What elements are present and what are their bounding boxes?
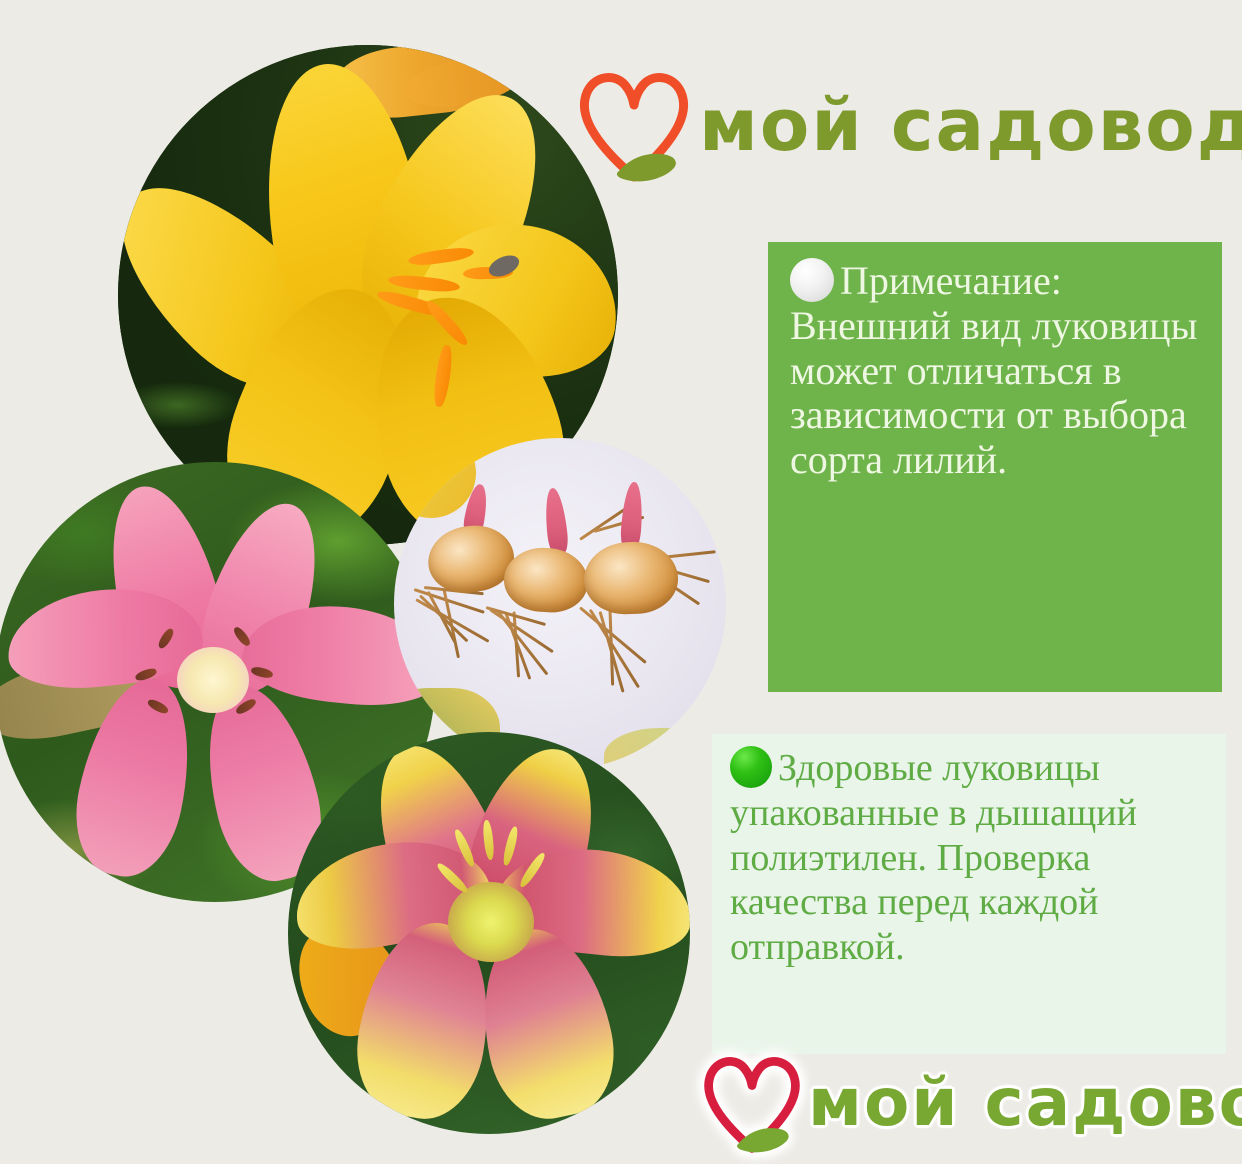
note-panel-text: Примечание: Внешний вид луковицы может о… — [790, 258, 1202, 483]
heart-leaf-icon — [700, 1047, 804, 1159]
quality-panel-text: Здоровые луковицы упакованные в дышащий … — [730, 746, 1210, 970]
gray-circle-bullet-icon — [790, 258, 834, 302]
lily-bulb — [583, 540, 679, 615]
heart-leaf-icon — [575, 61, 693, 189]
brand-watermark-text: мой садовод — [808, 1070, 1242, 1136]
note-panel: Примечание: Внешний вид луковицы может о… — [768, 242, 1222, 692]
brand-logo-top: мой садовод — [575, 55, 1220, 195]
note-panel-body: Внешний вид луковицы может отличаться в … — [790, 303, 1197, 482]
red-lily-center — [448, 882, 534, 962]
poster-canvas: мой садовод Примечание: Внешний вид луко… — [0, 0, 1242, 1164]
photo-red-yellow-lily — [288, 732, 690, 1134]
note-panel-heading: Примечание: — [840, 258, 1062, 303]
green-circle-bullet-icon — [730, 746, 772, 788]
brand-logo-top-text: мой садовод — [699, 89, 1242, 161]
photo-lily-bulbs — [394, 438, 726, 770]
brand-watermark-bottom: мой садовод — [700, 1042, 1242, 1164]
quality-panel: Здоровые луковицы упакованные в дышащий … — [712, 734, 1226, 1054]
pink-lily-center — [177, 647, 249, 713]
